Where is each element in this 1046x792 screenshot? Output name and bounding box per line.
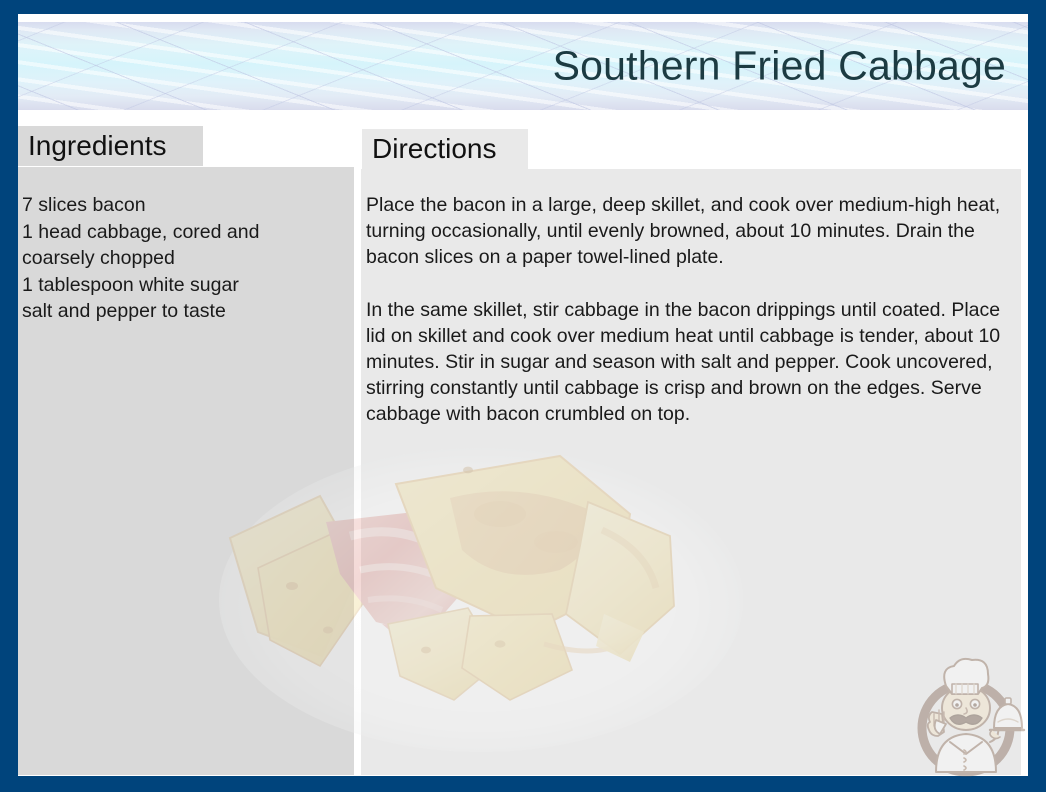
directions-body: Place the bacon in a large, deep skillet… [362,192,1020,428]
ingredients-list: 7 slices bacon 1 head cabbage, cored and… [18,192,348,325]
header-banner: Southern Fried Cabbage [18,22,1028,110]
tab-ingredients[interactable]: Ingredients [18,126,203,166]
directions-step-2: In the same skillet, stir cabbage in the… [366,297,1010,428]
page-title: Southern Fried Cabbage [553,43,1006,88]
directions-step-1: Place the bacon in a large, deep skillet… [366,192,1010,271]
recipe-slide: Southern Fried Cabbage [0,0,1046,792]
tab-directions[interactable]: Directions [362,129,528,169]
ingredients-text-block: 7 slices bacon 1 head cabbage, cored and… [22,192,340,325]
